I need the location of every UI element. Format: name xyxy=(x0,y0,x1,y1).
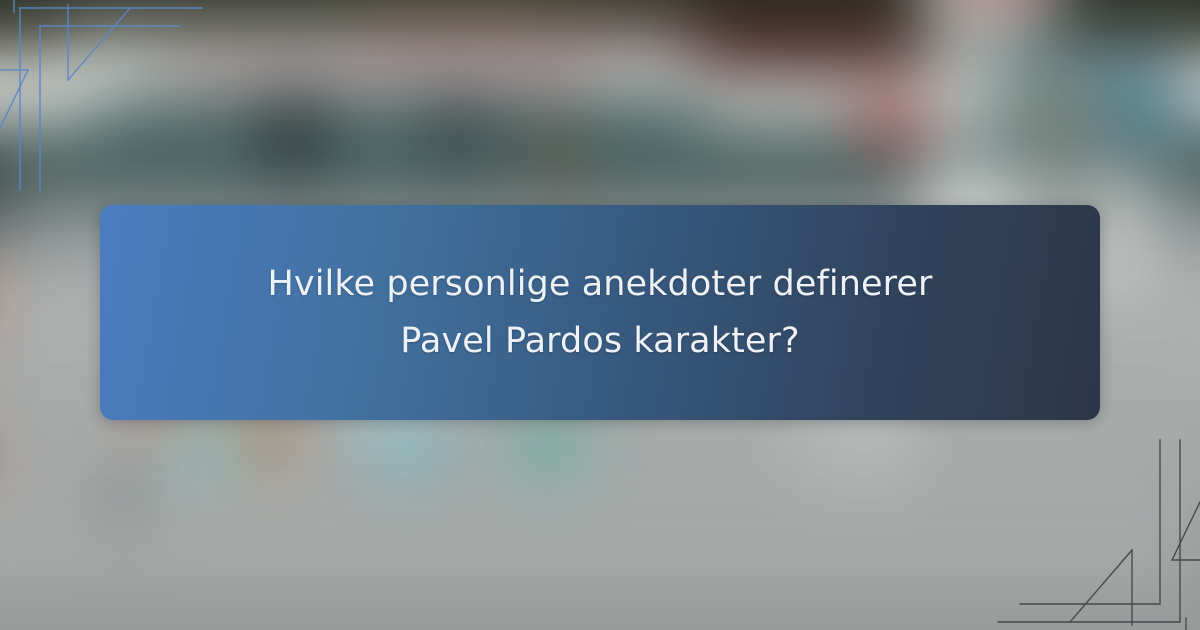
poster-canvas: Hvilke personlige anekdoter definerer Pa… xyxy=(0,0,1200,630)
quote-text: Hvilke personlige anekdoter definerer Pa… xyxy=(220,256,980,369)
quote-card: Hvilke personlige anekdoter definerer Pa… xyxy=(100,205,1100,420)
